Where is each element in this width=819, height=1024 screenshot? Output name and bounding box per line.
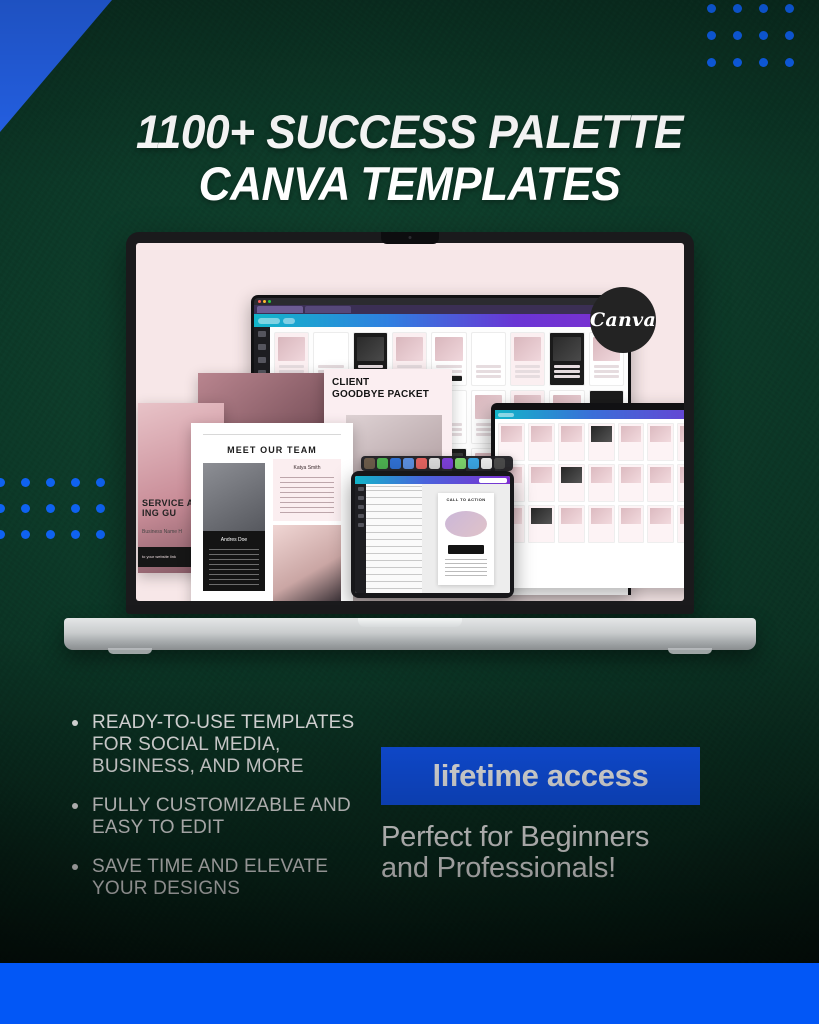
dot — [759, 58, 768, 67]
dot — [0, 478, 5, 487]
canva-toolbar-secondary — [495, 410, 684, 419]
tablet-document-page: CALL TO ACTION — [438, 493, 494, 585]
thumbnail-text-line — [594, 365, 619, 368]
dot — [785, 4, 794, 13]
thumbnail-image — [553, 337, 580, 361]
template-thumbnail — [588, 505, 615, 543]
thumbnail-image — [591, 426, 612, 442]
dock-app-icon-3 — [403, 458, 414, 469]
thumbnail-image — [561, 467, 582, 483]
thumbnail-text-line — [554, 375, 579, 378]
guide-card-subtitle: Business Name H — [142, 529, 182, 535]
dock-app-icon-10 — [494, 458, 505, 469]
dot — [0, 504, 5, 513]
minimize-icon — [263, 300, 266, 303]
thumbnail-image — [396, 337, 423, 361]
feature-list-item: Fully customizable and easy to edit — [62, 795, 382, 839]
thumbnail-image — [650, 508, 671, 524]
laptop-foot — [108, 648, 152, 654]
dot — [785, 58, 794, 67]
browser-tab — [305, 306, 351, 313]
template-thumbnail — [677, 464, 684, 502]
projects-icon — [358, 523, 364, 527]
laptop-base — [64, 618, 756, 650]
dot — [733, 58, 742, 67]
browser-tab — [257, 306, 303, 313]
thumbnail-image — [680, 467, 684, 483]
template-thumbnail — [618, 464, 645, 502]
tablet-doc-cta-button — [448, 545, 484, 554]
dock-app-icon-6 — [442, 458, 453, 469]
headline-line-1: 1100+ SUCCESS PALETTE — [25, 108, 795, 155]
dot-grid-top-right — [707, 4, 811, 85]
search-icon — [479, 478, 507, 483]
dock-app-icon-2 — [390, 458, 401, 469]
template-thumbnail — [618, 423, 645, 461]
template-thumbnail — [528, 505, 555, 543]
toolbar-menu — [258, 318, 280, 324]
thumbnail-text-line — [436, 365, 461, 368]
template-thumbnail — [549, 332, 584, 386]
thumbnail-image — [650, 467, 671, 483]
tagline-line-1: Perfect for Beginners — [381, 822, 721, 853]
tablet-panel-list — [366, 484, 422, 593]
text-icon — [258, 357, 266, 363]
client-title-line-2: GOODBYE PACKET — [332, 389, 429, 400]
tagline: Perfect for Beginners and Professionals! — [381, 822, 721, 885]
template-thumbnail — [588, 423, 615, 461]
dock-app-icon-5 — [429, 458, 440, 469]
template-thumbnail — [588, 464, 615, 502]
divider — [203, 434, 341, 435]
uploads-icon — [358, 514, 364, 518]
dot — [21, 478, 30, 487]
thumbnail-text-line — [318, 365, 343, 368]
thumbnail-image — [531, 426, 552, 442]
thumbnail-text-line — [515, 375, 540, 378]
thumbnail-text-line — [397, 365, 422, 368]
template-thumbnail — [618, 505, 645, 543]
laptop-base-notch — [358, 618, 462, 627]
tagline-line-2: and Professionals! — [381, 853, 721, 884]
template-thumbnail — [510, 332, 545, 386]
browser-tab-strip — [254, 305, 628, 314]
template-thumbnail — [647, 464, 674, 502]
team-member-2-name: Katya Smith — [273, 465, 341, 471]
guide-title-line-2: ING GU — [142, 508, 176, 518]
thumbnail-image — [531, 467, 552, 483]
canva-toolbar — [254, 314, 628, 327]
macos-dock — [361, 456, 513, 471]
toolbar-menu — [283, 318, 295, 324]
macos-titlebar — [254, 298, 628, 305]
dock-app-icon-7 — [455, 458, 466, 469]
template-thumbnail — [471, 332, 506, 386]
dot — [733, 31, 742, 40]
team-member-2: Katya Smith — [273, 459, 341, 521]
template-thumbnail — [528, 464, 555, 502]
tablet-mockup: CALL TO ACTION — [351, 471, 514, 598]
guide-card-footer-text: to your website link — [142, 554, 176, 559]
guide-title-line-1: SERVICE A — [142, 498, 194, 508]
tablet-doc-text — [445, 559, 487, 579]
dot — [46, 478, 55, 487]
laptop-foot — [668, 648, 712, 654]
dot — [21, 504, 30, 513]
feature-list-item: Save time and elevate your designs — [62, 856, 382, 900]
guide-card-title: SERVICE A ING GU — [142, 499, 194, 519]
close-icon — [258, 300, 261, 303]
team-member-2-bio — [280, 477, 334, 513]
dot — [733, 4, 742, 13]
thumbnail-image — [531, 508, 552, 524]
template-grid-secondary — [495, 419, 684, 588]
headline-line-2: CANVA TEMPLATES — [25, 160, 795, 207]
dot — [759, 31, 768, 40]
feature-list: Ready-to-use templates for social media,… — [62, 712, 382, 917]
canva-logo-text: Canva — [590, 309, 656, 331]
tablet-body: CALL TO ACTION — [355, 484, 510, 593]
laptop-lid: Canva — [126, 232, 694, 614]
thumbnail-text-line — [358, 365, 383, 368]
template-thumbnail — [528, 423, 555, 461]
tablet-sidebar-rail — [355, 484, 366, 593]
feature-list-item: Ready-to-use templates for social media,… — [62, 712, 382, 778]
thumbnail-image — [621, 467, 642, 483]
tablet-toolbar — [355, 476, 510, 484]
thumbnail-text-line — [515, 370, 540, 373]
template-thumbnail — [558, 505, 585, 543]
template-thumbnail — [558, 423, 585, 461]
thumbnail-image — [357, 337, 384, 361]
thumbnail-text-line — [476, 370, 501, 373]
dock-app-icon-0 — [364, 458, 375, 469]
template-thumbnail — [647, 423, 674, 461]
team-member-1-photo — [203, 463, 265, 531]
thumbnail-text-line — [594, 370, 619, 373]
thumbnail-text-line — [554, 365, 579, 368]
lifetime-access-badge: lifetime access — [381, 747, 700, 805]
laptop-mockup: Canva — [64, 232, 756, 650]
tablet-canvas: CALL TO ACTION — [422, 484, 510, 593]
toolbar-menu — [498, 413, 514, 417]
thumbnail-text-line — [594, 375, 619, 378]
dot — [46, 504, 55, 513]
dot — [46, 530, 55, 539]
dock-app-icon-8 — [468, 458, 479, 469]
dot — [707, 31, 716, 40]
thumbnail-text-line — [279, 365, 304, 368]
webcam-notch — [381, 232, 439, 244]
thumbnail-image — [591, 508, 612, 524]
thumbnail-image — [621, 508, 642, 524]
client-card-title: CLIENT GOODBYE PACKET — [332, 377, 429, 400]
text-icon — [358, 505, 364, 509]
tablet-doc-header: CALL TO ACTION — [438, 497, 494, 502]
template-card-meet-our-team: MEET OUR TEAM Andres Doe Katya Smith — [191, 423, 353, 601]
thumbnail-image — [435, 337, 462, 361]
team-member-1-name: Andres Doe — [203, 537, 265, 543]
tablet-doc-image — [445, 511, 487, 537]
thumbnail-image — [650, 426, 671, 442]
template-thumbnail — [647, 505, 674, 543]
design-icon — [258, 331, 266, 337]
dot — [707, 58, 716, 67]
maximize-icon — [268, 300, 271, 303]
design-icon — [358, 487, 364, 491]
dock-app-icon-9 — [481, 458, 492, 469]
team-member-1: Andres Doe — [203, 463, 265, 591]
template-thumbnail — [677, 423, 684, 461]
thumbnail-image — [680, 426, 684, 442]
elements-icon — [258, 344, 266, 350]
tablet-screen: CALL TO ACTION — [355, 476, 510, 593]
canva-logo-badge: Canva — [590, 287, 656, 353]
dot — [21, 530, 30, 539]
thumbnail-text-line — [476, 375, 501, 378]
dot — [759, 4, 768, 13]
template-thumbnail — [677, 505, 684, 543]
thumbnail-image — [591, 467, 612, 483]
thumbnail-text-line — [476, 365, 501, 368]
thumbnail-image — [278, 337, 305, 361]
secondary-laptop-mockup — [491, 403, 684, 588]
template-thumbnail — [558, 464, 585, 502]
dot — [785, 31, 794, 40]
thumbnail-image — [561, 508, 582, 524]
lifetime-access-label: lifetime access — [432, 758, 648, 794]
dot — [707, 4, 716, 13]
thumbnail-image — [621, 426, 642, 442]
thumbnail-text-line — [515, 365, 540, 368]
page-title: 1100+ SUCCESS PALETTE CANVA TEMPLATES — [25, 108, 795, 207]
elements-icon — [358, 496, 364, 500]
team-card-title: MEET OUR TEAM — [191, 445, 353, 455]
laptop-screen: Canva — [136, 243, 684, 601]
thumbnail-image — [680, 508, 684, 524]
team-member-1-bio — [209, 549, 259, 585]
dock-app-icon-4 — [416, 458, 427, 469]
thumbnail-image — [514, 337, 541, 361]
thumbnail-image — [501, 426, 522, 442]
client-title-line-1: CLIENT — [332, 377, 369, 388]
thumbnail-image — [561, 426, 582, 442]
thumbnail-text-line — [554, 370, 579, 373]
team-member-2-photo — [273, 525, 341, 601]
promo-poster: 1100+ SUCCESS PALETTE CANVA TEMPLATES Ca… — [0, 0, 819, 1024]
dot — [0, 530, 5, 539]
bottom-blue-banner — [0, 963, 819, 1024]
dock-app-icon-1 — [377, 458, 388, 469]
